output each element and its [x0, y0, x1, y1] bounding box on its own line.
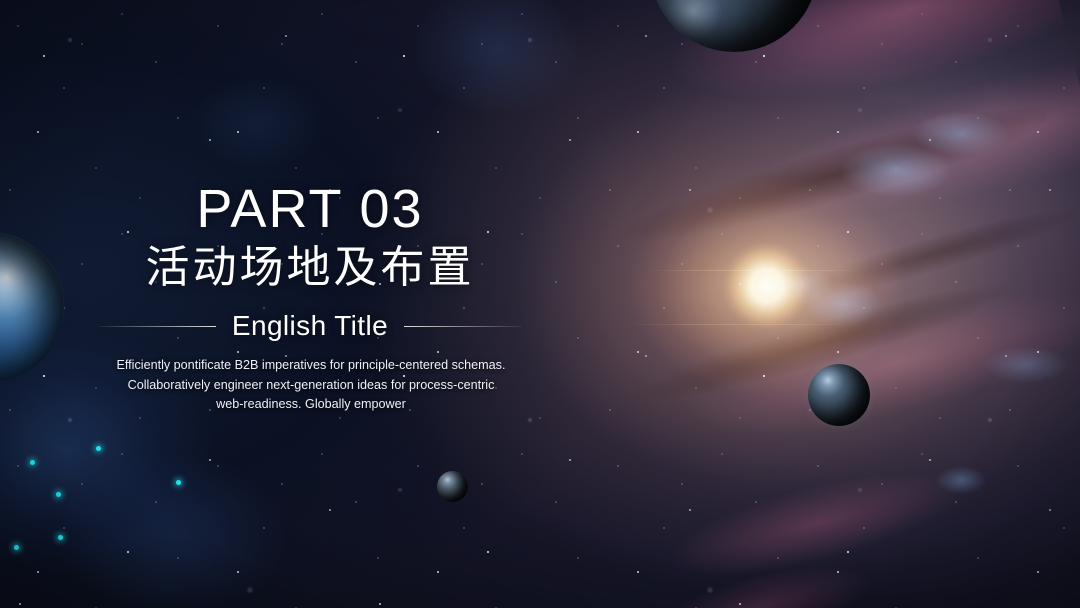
part-number-label: PART 03	[0, 182, 620, 236]
body-line: Collaboratively engineer next-generation…	[88, 376, 534, 396]
body-paragraph: Efficiently pontificate B2B imperatives …	[88, 356, 534, 415]
section-subtitle-english: English Title	[232, 310, 388, 342]
title-block: PART 03 活动场地及布置 English Title Efficientl…	[0, 0, 620, 608]
body-line: Efficiently pontificate B2B imperatives …	[88, 356, 534, 376]
planet-right-icon	[808, 364, 870, 426]
section-title-chinese: 活动场地及布置	[0, 245, 620, 291]
subtitle-row: English Title	[0, 310, 620, 342]
planet-top-icon	[650, 0, 818, 52]
presentation-slide: PART 03 活动场地及布置 English Title Efficientl…	[0, 0, 1080, 608]
divider-line-left	[98, 326, 216, 327]
divider-line-right	[404, 326, 522, 327]
body-line: web-readiness. Globally empower	[88, 395, 534, 415]
